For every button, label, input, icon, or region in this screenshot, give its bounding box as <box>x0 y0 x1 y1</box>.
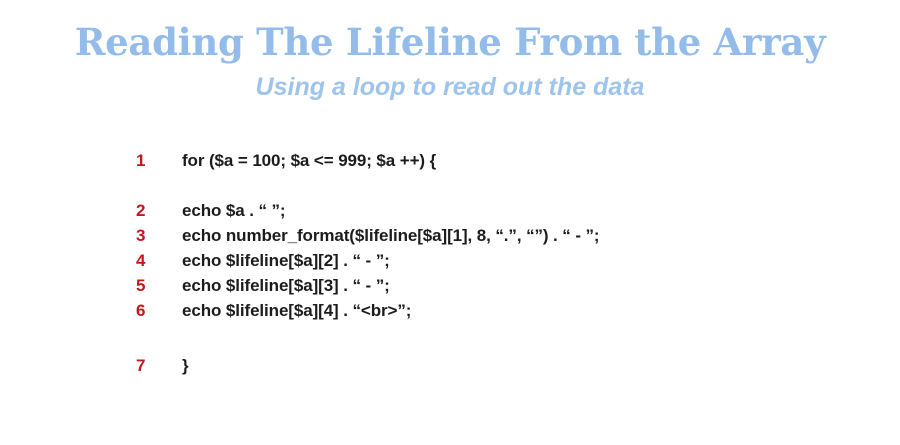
page-title: Reading The Lifeline From the Array <box>0 20 900 64</box>
code-line-text: echo $lifeline[$a][2] . “ - ”; <box>182 248 870 273</box>
code-line-text: echo number_format($lifeline[$a][1], 8, … <box>182 223 870 248</box>
line-number: 6 <box>130 298 182 323</box>
line-number: 7 <box>130 353 182 378</box>
code-line-3: 3 echo number_format($lifeline[$a][1], 8… <box>130 223 870 248</box>
code-blank-line <box>130 173 870 198</box>
code-line-7: 7 } <box>130 353 870 378</box>
code-line-4: 4 echo $lifeline[$a][2] . “ - ”; <box>130 248 870 273</box>
code-line-text: echo $lifeline[$a][4] . “<br>”; <box>182 298 870 323</box>
code-line-text: echo $lifeline[$a][3] . “ - ”; <box>182 273 870 298</box>
slide-canvas: Reading The Lifeline From the Array Usin… <box>0 0 900 445</box>
code-listing: 1 for ($a = 100; $a <= 999; $a ++) { 2 e… <box>130 148 870 378</box>
code-line-2: 2 echo $a . “ ”; <box>130 198 870 223</box>
code-line-text: for ($a = 100; $a <= 999; $a ++) { <box>182 148 870 173</box>
page-subtitle: Using a loop to read out the data <box>0 72 900 102</box>
code-line-text: } <box>182 353 870 378</box>
line-number: 5 <box>130 273 182 298</box>
code-line-text: echo $a . “ ”; <box>182 198 870 223</box>
line-number: 3 <box>130 223 182 248</box>
line-number: 1 <box>130 148 182 173</box>
line-number: 2 <box>130 198 182 223</box>
code-line-5: 5 echo $lifeline[$a][3] . “ - ”; <box>130 273 870 298</box>
code-line-1: 1 for ($a = 100; $a <= 999; $a ++) { <box>130 148 870 173</box>
code-line-6: 6 echo $lifeline[$a][4] . “<br>”; <box>130 298 870 323</box>
line-number: 4 <box>130 248 182 273</box>
